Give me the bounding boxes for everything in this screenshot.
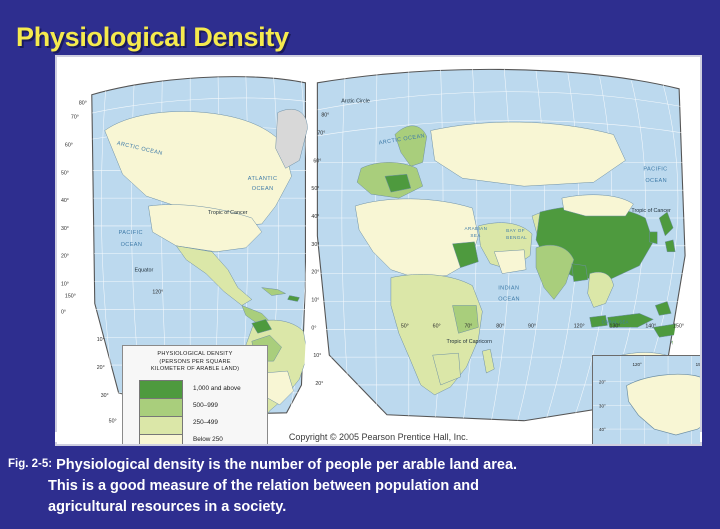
legend-label-column: 1,000 and above 500–999 250–499 Below 25… — [193, 380, 241, 446]
australia-inset-map: 120°150°160° 20°30°40° 110°120°130° 140°… — [592, 355, 702, 446]
svg-text:30°: 30° — [311, 242, 319, 248]
svg-text:20°: 20° — [311, 270, 319, 276]
svg-text:OCEAN: OCEAN — [498, 296, 520, 302]
svg-text:150°: 150° — [673, 323, 684, 329]
page-title: Physiological Density — [16, 22, 289, 53]
svg-text:Tropic of Capricorn: Tropic of Capricorn — [447, 339, 492, 345]
svg-text:10°: 10° — [311, 297, 319, 303]
svg-text:30°: 30° — [61, 226, 69, 232]
map-legend: PHYSIOLOGICAL DENSITY (PERSONS PER SQUAR… — [122, 345, 268, 446]
svg-text:140°: 140° — [645, 323, 656, 329]
caption-line-1: Physiological density is the number of p… — [56, 457, 517, 473]
svg-text:PACIFIC: PACIFIC — [119, 230, 143, 236]
legend-label-1: 500–999 — [193, 397, 241, 414]
svg-text:OCEAN: OCEAN — [121, 242, 143, 248]
svg-text:PACIFIC: PACIFIC — [643, 166, 667, 172]
legend-swatch-3 — [140, 435, 182, 446]
legend-label-3: Below 250 — [193, 431, 241, 446]
svg-text:BAY OF: BAY OF — [506, 228, 525, 233]
svg-text:50°: 50° — [311, 186, 319, 192]
svg-text:OCEAN: OCEAN — [252, 186, 274, 192]
caption-line-3: agricultural resources in a society. — [48, 497, 714, 518]
svg-text:70°: 70° — [464, 323, 472, 329]
svg-text:50°: 50° — [401, 323, 409, 329]
legend-swatch-column — [139, 380, 183, 446]
svg-text:70°: 70° — [71, 115, 79, 121]
svg-text:20°: 20° — [97, 365, 105, 371]
legend-label-0: 1,000 and above — [193, 380, 241, 397]
svg-text:20°: 20° — [599, 380, 606, 385]
svg-text:30°: 30° — [101, 393, 109, 399]
svg-text:ARABIAN: ARABIAN — [464, 226, 487, 231]
svg-text:120°: 120° — [632, 362, 642, 367]
svg-text:90°: 90° — [528, 323, 536, 329]
legend-title-line2: (PERSONS PER SQUARE — [127, 359, 263, 367]
svg-text:150°: 150° — [65, 294, 76, 300]
svg-text:60°: 60° — [313, 158, 321, 164]
svg-text:40°: 40° — [311, 214, 319, 220]
svg-text:70°: 70° — [317, 131, 325, 137]
svg-text:40°: 40° — [599, 427, 606, 432]
svg-text:120°: 120° — [152, 290, 163, 296]
legend-label-2: 250–499 — [193, 414, 241, 431]
legend-swatch-1 — [140, 399, 182, 417]
svg-text:0°: 0° — [311, 325, 316, 331]
svg-text:Arctic Circle: Arctic Circle — [341, 99, 370, 105]
svg-text:20°: 20° — [61, 254, 69, 260]
svg-text:SEA: SEA — [470, 233, 481, 238]
svg-text:20°: 20° — [315, 381, 323, 387]
svg-text:150°: 150° — [696, 362, 702, 367]
figure-caption: Fig. 2-5: Physiological density is the n… — [8, 454, 714, 518]
svg-text:Equator: Equator — [135, 268, 154, 274]
legend-title: PHYSIOLOGICAL DENSITY (PERSONS PER SQUAR… — [127, 351, 263, 374]
svg-text:INDIAN: INDIAN — [498, 286, 519, 292]
svg-text:OCEAN: OCEAN — [645, 178, 667, 184]
map-figure-panel: 80° 70° 60° 50° 40° 30° 20° 10° 0° 80° 7… — [55, 55, 702, 446]
svg-text:10°: 10° — [313, 353, 321, 359]
svg-text:60°: 60° — [65, 142, 73, 148]
svg-text:50°: 50° — [61, 170, 69, 176]
legend-swatch-0 — [140, 381, 182, 399]
svg-text:Tropic of Cancer: Tropic of Cancer — [208, 210, 248, 216]
svg-text:60°: 60° — [433, 323, 441, 329]
legend-title-line3: KILOMETER OF ARABLE LAND) — [127, 366, 263, 374]
svg-text:30°: 30° — [599, 403, 606, 408]
svg-text:80°: 80° — [79, 101, 87, 107]
svg-text:80°: 80° — [496, 323, 504, 329]
legend-swatch-2 — [140, 417, 182, 435]
svg-text:120°: 120° — [574, 323, 585, 329]
svg-text:10°: 10° — [97, 337, 105, 343]
svg-text:50°: 50° — [109, 419, 117, 425]
caption-line-2: This is a good measure of the relation b… — [48, 476, 714, 497]
svg-text:CORAL SEA: CORAL SEA — [602, 319, 629, 324]
figure-number: Fig. 2-5: — [8, 458, 52, 470]
svg-text:BENGAL: BENGAL — [506, 235, 527, 240]
legend-title-line1: PHYSIOLOGICAL DENSITY — [127, 351, 263, 359]
svg-text:ATLANTIC: ATLANTIC — [248, 176, 278, 182]
svg-text:40°: 40° — [61, 198, 69, 204]
svg-text:Tropic of Cancer: Tropic of Cancer — [631, 208, 671, 214]
svg-text:0°: 0° — [61, 309, 66, 315]
svg-text:10°: 10° — [61, 282, 69, 288]
svg-text:80°: 80° — [321, 113, 329, 119]
